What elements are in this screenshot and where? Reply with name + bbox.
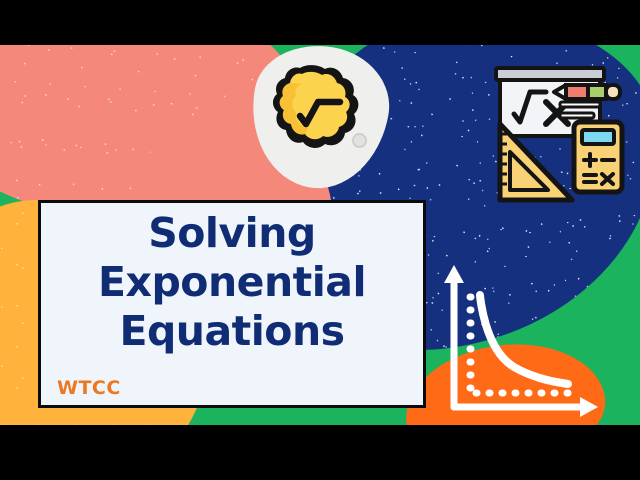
whiteboard-math-illustration — [488, 58, 634, 210]
thumbnail-canvas: Solving Exponential Equations WTCC — [0, 45, 640, 425]
letterbox-top — [0, 0, 640, 45]
letterbox-bottom — [0, 425, 640, 480]
y-axis-arrow-icon — [444, 265, 464, 283]
x-axis-arrow-icon — [580, 397, 598, 417]
title-line-2: Exponential — [41, 258, 423, 307]
brand-label: WTCC — [57, 377, 121, 399]
video-frame: Solving Exponential Equations WTCC — [0, 0, 640, 480]
brain-sqrt-icon — [266, 58, 370, 162]
title-line-3: Equations — [41, 307, 423, 356]
title-line-1: Solving — [41, 209, 423, 258]
title-card: Solving Exponential Equations WTCC — [38, 200, 426, 408]
calculator-icon — [574, 122, 622, 192]
page-title: Solving Exponential Equations — [41, 209, 423, 357]
pencil-icon — [554, 85, 620, 99]
exponential-decay-graph — [440, 257, 606, 425]
